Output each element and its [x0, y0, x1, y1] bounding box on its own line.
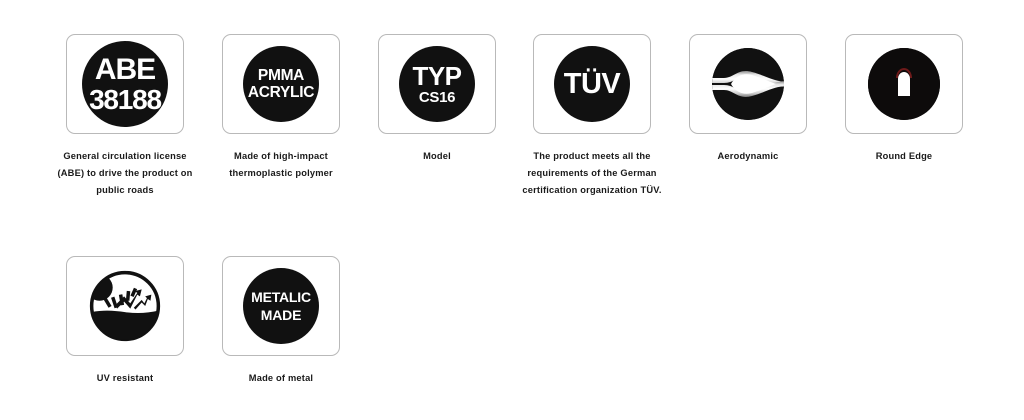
badge-caption-uv-resistant: UV resistant: [52, 370, 198, 387]
badge-item-round-edge[interactable]: Round Edge: [845, 34, 1001, 165]
badge-caption-tuv: The product meets all the requirements o…: [519, 148, 665, 198]
badge-caption-abe: General circulation license (ABE) to dri…: [52, 148, 198, 198]
abe-emblem-icon: ABE 38188: [82, 41, 168, 127]
pmma-emblem-line-2: ACRYLIC: [248, 85, 314, 101]
badge-card-abe: ABE 38188: [66, 34, 184, 134]
badge-card-metal: METALIC MADE: [222, 256, 340, 356]
tuv-emblem-line-1: TÜV: [564, 70, 621, 99]
aerodynamic-airflow-icon: [712, 48, 784, 120]
badge-item-typ[interactable]: TYP CS16 Model: [378, 34, 534, 165]
typ-emblem-line-2: CS16: [419, 90, 455, 105]
tuv-emblem-icon: TÜV: [554, 46, 630, 122]
uv-sun-arrows-icon: [89, 270, 161, 342]
badge-caption-typ: Model: [364, 148, 510, 165]
round-edge-icon: [868, 48, 940, 120]
badge-card-round-edge: [845, 34, 963, 134]
badge-grid: ABE 38188 General circulation license (A…: [0, 0, 1024, 420]
badge-item-abe[interactable]: ABE 38188 General circulation license (A…: [66, 34, 222, 198]
badge-item-pmma[interactable]: PMMA ACRYLIC Made of high-impact thermop…: [222, 34, 378, 182]
badge-caption-metal: Made of metal: [208, 370, 354, 387]
badge-caption-round-edge: Round Edge: [831, 148, 977, 165]
badge-item-metal[interactable]: METALIC MADE Made of metal: [222, 256, 378, 387]
metal-emblem-line-2: MADE: [261, 308, 301, 322]
abe-emblem-line-1: ABE: [95, 55, 155, 85]
typ-emblem-line-1: TYP: [412, 63, 461, 89]
typ-model-emblem-icon: TYP CS16: [399, 46, 475, 122]
badge-card-typ: TYP CS16: [378, 34, 496, 134]
badge-card-uv-resistant: [66, 256, 184, 356]
pmma-emblem-line-1: PMMA: [258, 68, 304, 84]
pmma-acrylic-emblem-icon: PMMA ACRYLIC: [243, 46, 319, 122]
badge-caption-aerodynamic: Aerodynamic: [675, 148, 821, 165]
badge-item-aerodynamic[interactable]: Aerodynamic: [689, 34, 845, 165]
badge-card-aerodynamic: [689, 34, 807, 134]
badge-card-pmma: PMMA ACRYLIC: [222, 34, 340, 134]
badge-item-tuv[interactable]: TÜV The product meets all the requiremen…: [533, 34, 689, 198]
metalic-made-emblem-icon: METALIC MADE: [243, 268, 319, 344]
badge-item-uv-resistant[interactable]: UV resistant: [66, 256, 222, 387]
metal-emblem-line-1: METALIC: [251, 290, 311, 304]
abe-emblem-line-2: 38188: [89, 86, 161, 114]
badge-caption-pmma: Made of high-impact thermoplastic polyme…: [208, 148, 354, 182]
badge-card-tuv: TÜV: [533, 34, 651, 134]
